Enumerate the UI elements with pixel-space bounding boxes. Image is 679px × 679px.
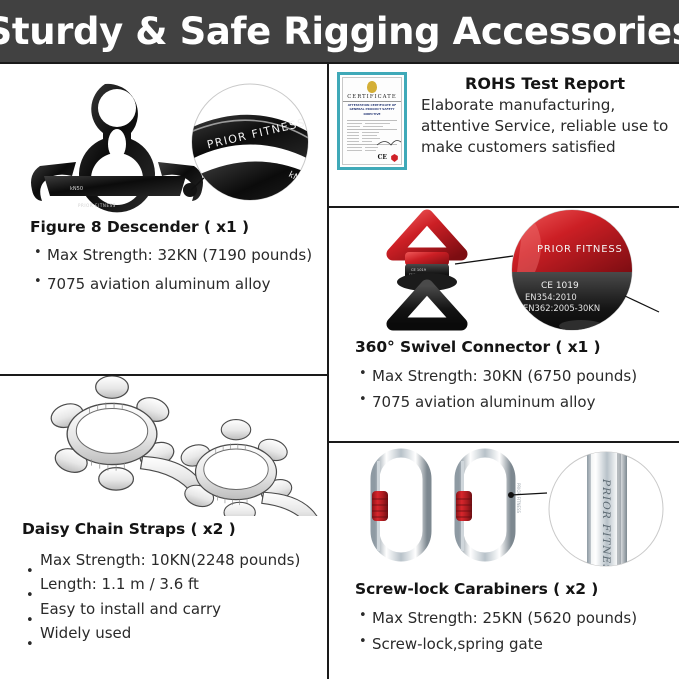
figure-8-title: Figure 8 Descender ( x1 ) (30, 218, 317, 236)
panel-rohs-test-report: CERTIFICATE ATTESTATION CERTIFICATE OF G… (329, 64, 679, 206)
svg-text:CE 1019: CE 1019 (541, 281, 579, 291)
swivel-connector-photo: CE 1019 EN354:2010 PRIOR FITNESS CE (329, 208, 679, 336)
figure-8-descender-photo: kN50 PRIOR FITNESS PRIOR FITNESS kN50 (0, 64, 327, 214)
certificate-heading: CERTIFICATE (343, 94, 401, 102)
panel-daisy-chain-straps: Daisy Chain Straps ( x2 ) Max Strength: … (0, 376, 327, 679)
panel-screw-lock-carabiners: PRIOR FITNESS PRIOR FITNESS Screw-lock C… (329, 443, 679, 679)
carabiner-2 (456, 453, 511, 557)
carabiner-1 (372, 453, 427, 557)
svg-text:kN50: kN50 (70, 186, 83, 192)
daisy-text-block: Daisy Chain Straps ( x2 ) Max Strength: … (0, 516, 327, 645)
certificate-seal-icon (367, 81, 377, 93)
daisy-strap-2 (178, 420, 318, 516)
signature-icon (375, 134, 402, 148)
rohs-body: Elaborate manufacturing, attentive Servi… (421, 95, 669, 157)
screw-lock-carabiners-photo: PRIOR FITNESS PRIOR FITNESS (329, 443, 679, 578)
header-bar: Sturdy & Safe Rigging Accessories (0, 0, 679, 62)
swivel-callout-magnifier: PRIOR FITNESS CE 1019 EN354:2010 EN362:2… (512, 210, 659, 334)
ce-mark-label: CE (378, 154, 387, 161)
svg-text:CE 1019: CE 1019 (411, 268, 427, 272)
swivel-title: 360° Swivel Connector ( x1 ) (355, 338, 669, 356)
list-item: 7075 aviation aluminum alloy (357, 392, 669, 412)
svg-text:PRIOR FITNESS: PRIOR FITNESS (537, 244, 623, 255)
swivel-spec-list: Max Strength: 30KN (6750 pounds) 7075 av… (357, 366, 669, 412)
svg-text:kN50: kN50 (287, 170, 311, 189)
carabiners-spec-list: Max Strength: 25KN (5620 pounds) Screw-l… (357, 608, 669, 654)
descender-body: kN50 PRIOR FITNESS (31, 84, 203, 212)
list-item: Max Strength: 30KN (6750 pounds) (357, 366, 669, 386)
daisy-chain-straps-illustration (0, 376, 327, 516)
svg-text:PRIOR FITNESS: PRIOR FITNESS (600, 478, 612, 578)
swivel-body: CE 1019 EN354:2010 (393, 216, 461, 324)
list-item: Max Strength: 10KN(2248 pounds) (22, 548, 317, 572)
svg-text:PRIOR FITNESS: PRIOR FITNESS (78, 203, 116, 208)
infographic-page: Sturdy & Safe Rigging Accessories (0, 0, 679, 679)
rohs-title: ROHS Test Report (421, 74, 669, 93)
carabiners-svg: PRIOR FITNESS PRIOR FITNESS (329, 443, 679, 578)
svg-text:PRIOR FITNESS: PRIOR FITNESS (516, 483, 521, 514)
panel-figure-8-descender: kN50 PRIOR FITNESS PRIOR FITNESS kN50 (0, 64, 327, 374)
list-item: Max Strength: 32KN (7190 pounds) (32, 245, 317, 265)
figure-8-descender-svg: kN50 PRIOR FITNESS PRIOR FITNESS kN50 (0, 64, 327, 214)
list-item: Screw-lock,spring gate (357, 634, 669, 654)
certificate-subheading: ATTESTATION CERTIFICATE OF GENERAL PRODU… (343, 102, 401, 117)
figure-8-spec-list: Max Strength: 32KN (7190 pounds) 7075 av… (32, 245, 317, 294)
svg-text:EN354:2010: EN354:2010 (525, 292, 577, 302)
swivel-text-block: 360° Swivel Connector ( x1 ) Max Strengt… (329, 336, 679, 412)
list-item: Easy to install and carry (22, 597, 317, 621)
list-item: Widely used (22, 621, 317, 645)
figure-8-text-block: Figure 8 Descender ( x1 ) Max Strength: … (0, 214, 327, 294)
panel-swivel-connector: CE 1019 EN354:2010 PRIOR FITNESS CE (329, 208, 679, 441)
carabiners-title: Screw-lock Carabiners ( x2 ) (355, 580, 669, 598)
svg-text:EN362:2005-30KN: EN362:2005-30KN (523, 303, 600, 313)
page-title: Sturdy & Safe Rigging Accessories (0, 10, 679, 53)
carabiner-callout-magnifier: PRIOR FITNESS (549, 447, 663, 578)
daisy-spec-list: Max Strength: 10KN(2248 pounds) Length: … (22, 548, 317, 645)
daisy-chain-svg (0, 376, 327, 516)
list-item: Max Strength: 25KN (5620 pounds) (357, 608, 669, 628)
swivel-connector-svg: CE 1019 EN354:2010 PRIOR FITNESS CE (329, 208, 679, 336)
list-item: 7075 aviation aluminum alloy (32, 274, 317, 294)
carabiners-text-block: Screw-lock Carabiners ( x2 ) Max Strengt… (329, 578, 679, 654)
rohs-text-block: ROHS Test Report Elaborate manufacturing… (421, 72, 669, 170)
safety-mark-icon (391, 154, 398, 162)
daisy-title: Daisy Chain Straps ( x2 ) (22, 520, 317, 538)
certificate-thumbnail: CERTIFICATE ATTESTATION CERTIFICATE OF G… (337, 72, 407, 170)
daisy-strap-1 (48, 376, 203, 495)
figure-8-callout-magnifier: PRIOR FITNESS kN50 (186, 84, 318, 214)
list-item: Length: 1.1 m / 3.6 ft (22, 572, 317, 596)
